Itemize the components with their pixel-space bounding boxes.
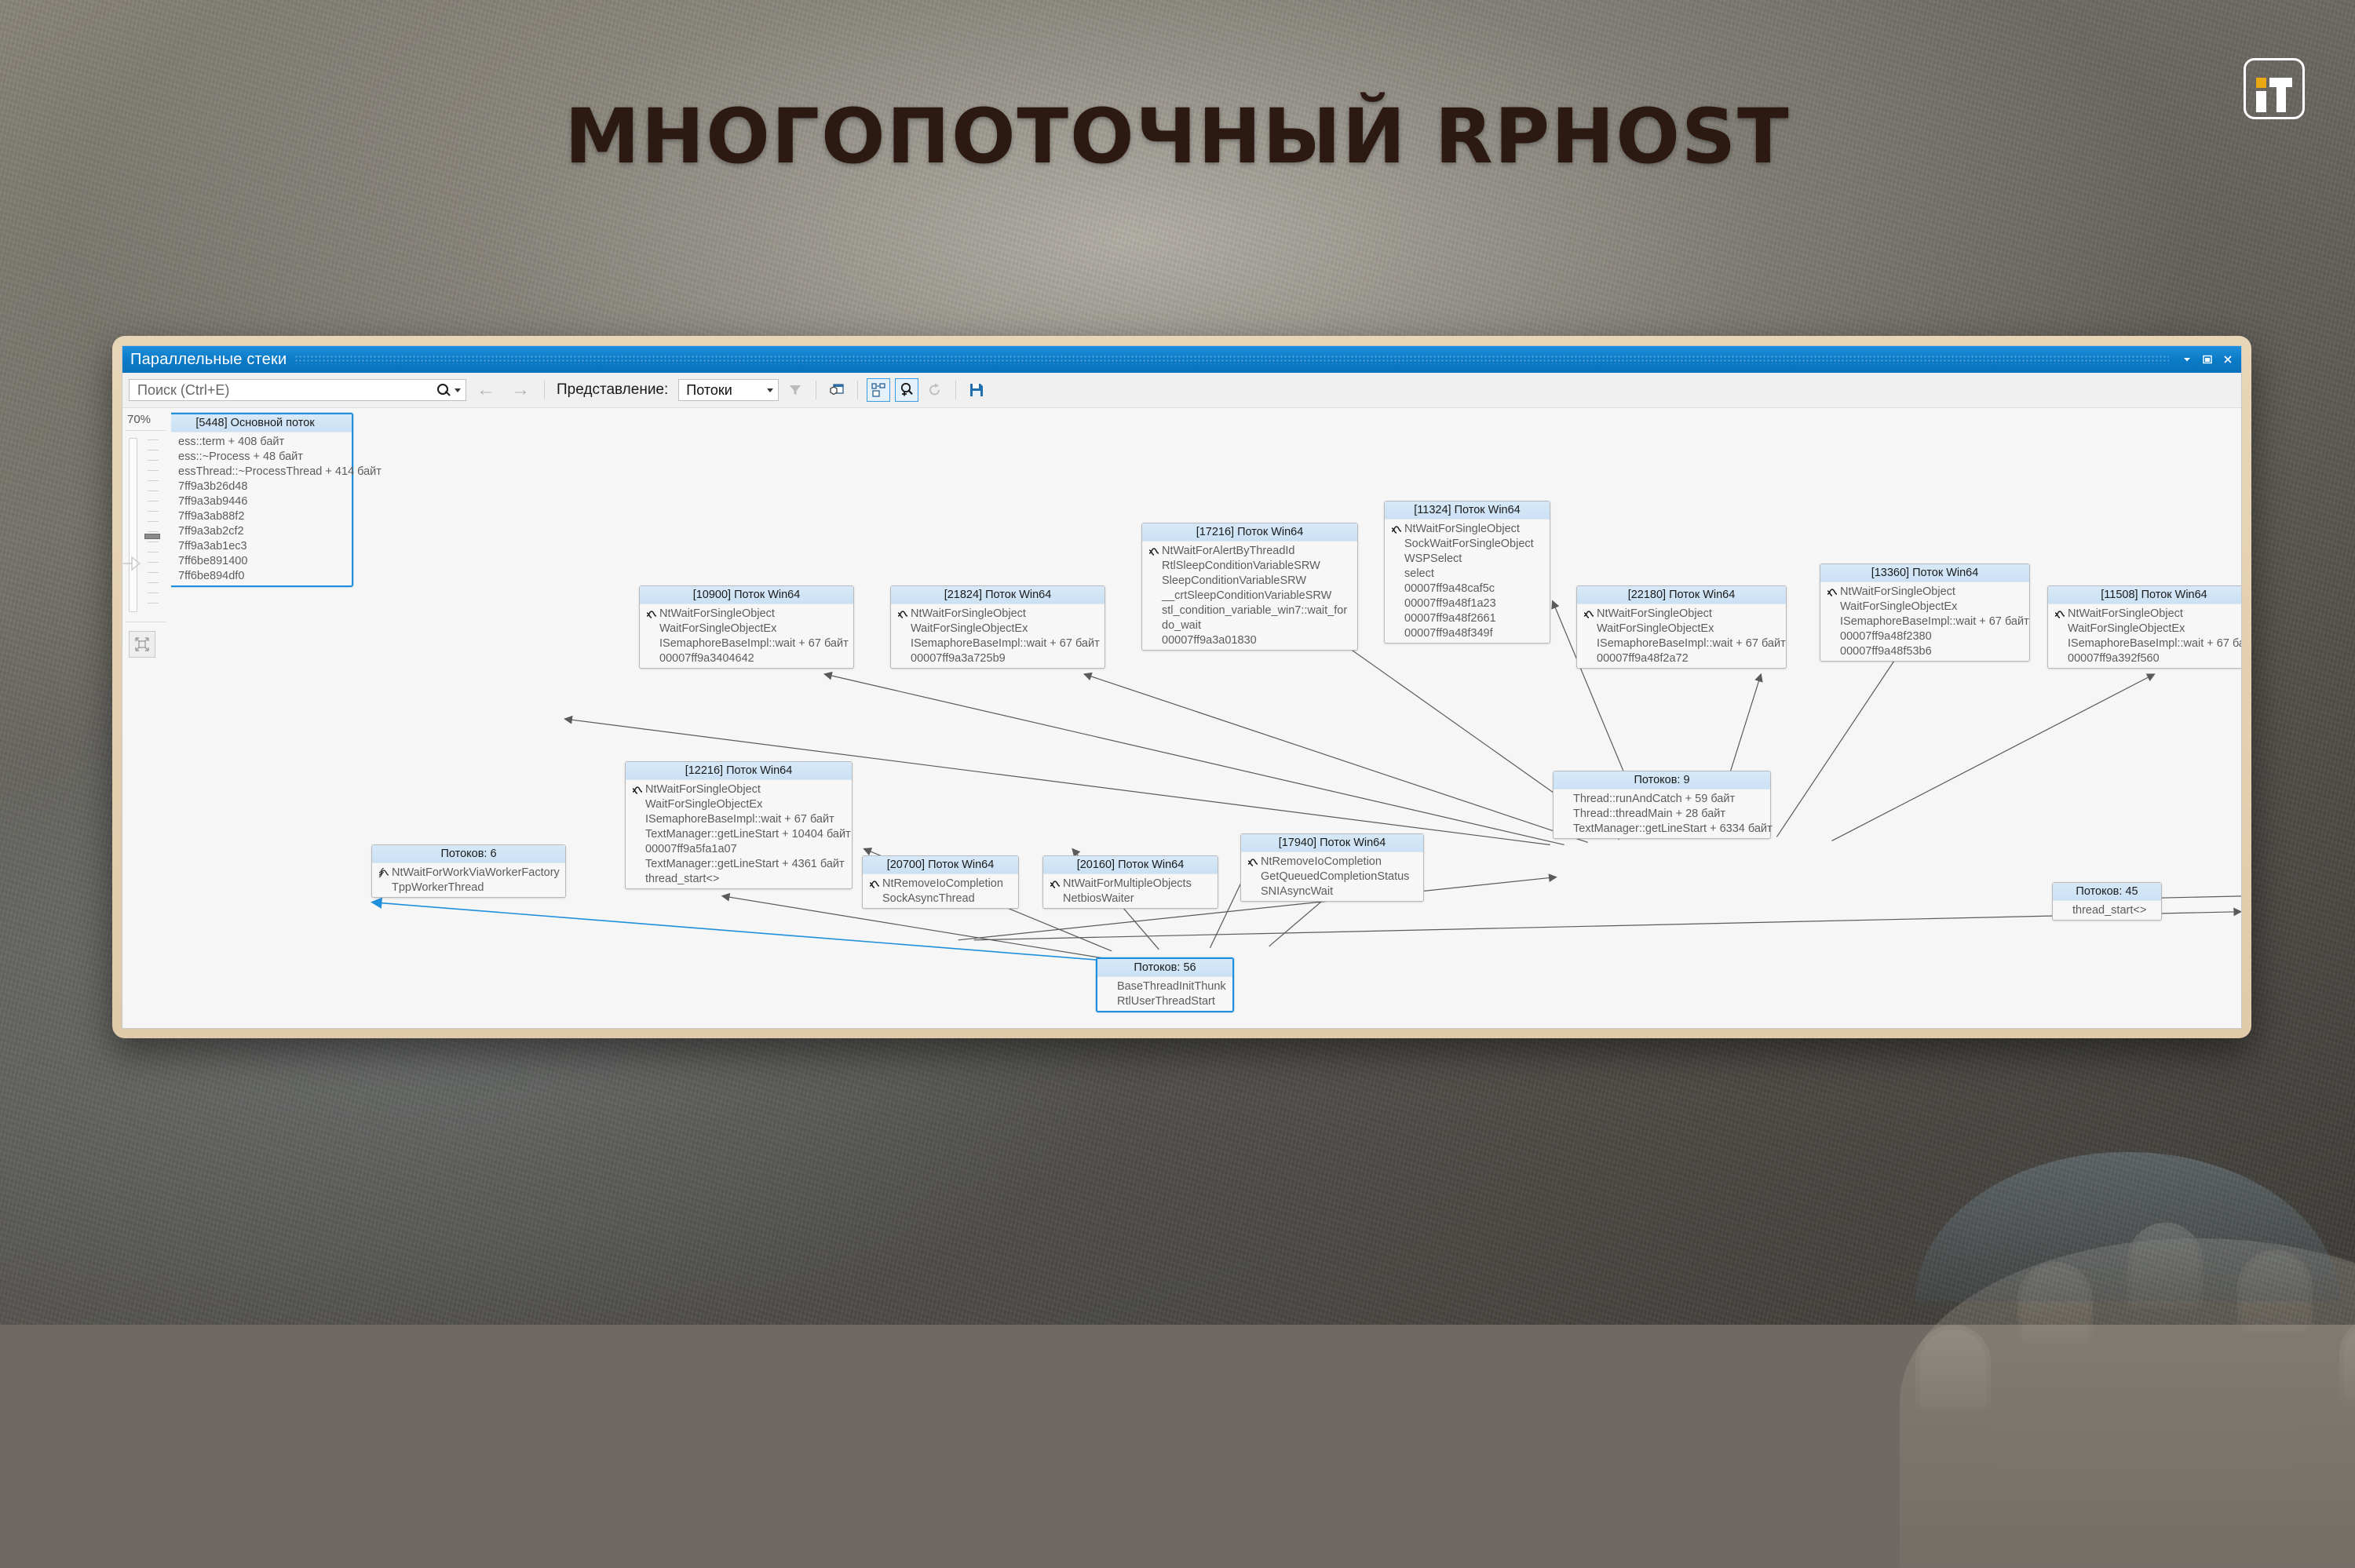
node-header: Потоков: 45	[2053, 883, 2161, 901]
node-header: [11324] Поток Win64	[1385, 501, 1550, 520]
stack-frame[interactable]: 7ff9a3ab1ec3	[171, 538, 352, 553]
stack-frame[interactable]: ISemaphoreBaseImpl::wait + 67 байт	[891, 636, 1104, 651]
stack-frame[interactable]: TextManager::getLineStart + 4361 байт	[626, 856, 852, 871]
stack-frame[interactable]: WSPSelect	[1385, 551, 1550, 566]
stack-frame[interactable]: WaitForSingleObjectEx	[891, 621, 1104, 636]
stack-frame[interactable]: do_wait	[1142, 618, 1357, 633]
stack-frame[interactable]: NtWaitForSingleObject	[640, 606, 853, 621]
node-header: [17216] Поток Win64	[1142, 523, 1357, 542]
node-header: [11508] Поток Win64	[2048, 586, 2241, 604]
stack-frame[interactable]: NtWaitForSingleObject	[1820, 584, 2029, 599]
node-frames: NtWaitForSingleObject WaitForSingleObjec…	[1820, 582, 2029, 661]
stack-frame[interactable]: RtlUserThreadStart	[1097, 994, 1232, 1008]
stack-frame[interactable]: essThread::~ProcessThread + 414 байт	[171, 464, 352, 479]
threads-glyph-icon	[2053, 609, 2066, 618]
node-header: [20700] Поток Win64	[863, 856, 1018, 874]
stack-node-20700[interactable]: [20700] Поток Win64 NtRemoveIoCompletion…	[862, 855, 1019, 909]
node-header: [17940] Поток Win64	[1241, 834, 1423, 852]
view-select-value: Потоки	[686, 382, 732, 399]
node-frames: BaseThreadInitThunk RtlUserThreadStart	[1097, 977, 1232, 1011]
node-frames: Thread::runAndCatch + 59 байт Thread::th…	[1554, 789, 1770, 838]
node-frames: NtWaitForSingleObject WaitForSingleObjec…	[2048, 604, 2241, 668]
stack-frame[interactable]: 00007ff9a3a725b9	[891, 651, 1104, 665]
stack-frame[interactable]: ISemaphoreBaseImpl::wait + 67 байт	[1820, 614, 2029, 629]
stack-frame[interactable]: TextManager::getLineStart + 6334 байт	[1554, 821, 1770, 836]
stack-frame[interactable]: 00007ff9a48f1a23	[1385, 596, 1550, 611]
stack-frame[interactable]: thread_start<>	[626, 871, 852, 886]
stack-frame[interactable]: WaitForSingleObjectEx	[1820, 599, 2029, 614]
stack-frame[interactable]: __crtSleepConditionVariableSRW	[1142, 588, 1357, 603]
stack-node-17940[interactable]: [17940] Поток Win64 NtRemoveIoCompletion…	[1240, 833, 1424, 902]
search-input[interactable]: Поиск (Ctrl+E)	[129, 379, 466, 401]
stack-frame[interactable]: select	[1385, 566, 1550, 581]
node-header: [21824] Поток Win64	[891, 586, 1104, 604]
stack-node-threads-9[interactable]: Потоков: 9 Thread::runAndCatch + 59 байт…	[1553, 771, 1771, 839]
node-frames: NtRemoveIoCompletion SockAsyncThread	[863, 874, 1018, 908]
window-titlebar: Параллельные стеки	[122, 346, 2241, 373]
stack-frame[interactable]: BaseThreadInitThunk	[1097, 979, 1232, 994]
slide-title: МНОГОПОТОЧНЫЙ RPHOST	[0, 93, 2355, 181]
threads-glyph-icon	[1389, 524, 1403, 534]
stack-frame[interactable]: 00007ff9a392f560	[2048, 651, 2241, 665]
node-frames: NtWaitForSingleObject WaitForSingleObjec…	[891, 604, 1104, 668]
stack-frame[interactable]: WaitForSingleObjectEx	[626, 797, 852, 811]
stack-node-17216[interactable]: [17216] Поток Win64 NtWaitForAlertByThre…	[1141, 523, 1358, 651]
toolbar-separator	[955, 381, 956, 399]
stack-frame[interactable]: 7ff9a3ab88f2	[171, 509, 352, 523]
node-header: [5448] Основной поток	[171, 414, 352, 432]
threads-glyph-icon	[1147, 546, 1160, 556]
search-icon[interactable]	[436, 383, 451, 397]
stack-node-threads-45[interactable]: Потоков: 45 thread_start<>	[2052, 882, 2162, 921]
zoom-percent-label: 70%	[122, 408, 171, 426]
diagram-canvas[interactable]: [5448] Основной поток ess::term + 408 ба…	[171, 408, 2241, 1028]
stack-frame[interactable]: ISemaphoreBaseImpl::wait + 67 байт	[640, 636, 853, 651]
chevron-down-icon[interactable]	[767, 388, 773, 392]
stack-frame[interactable]: NtWaitForMultipleObjects	[1043, 876, 1218, 891]
node-header: [22180] Поток Win64	[1577, 586, 1786, 604]
stack-frame[interactable]: 7ff9a3ab9446	[171, 494, 352, 509]
stack-frame[interactable]: 00007ff9a3404642	[640, 651, 853, 665]
stack-node-10900[interactable]: [10900] Поток Win64 NtWaitForSingleObjec…	[639, 585, 854, 669]
stack-frame[interactable]: 00007ff9a48f2380	[1820, 629, 2029, 644]
logo-i-stem	[2256, 91, 2266, 112]
stack-frame[interactable]: NtWaitForSingleObject	[1385, 521, 1550, 536]
stack-frame[interactable]: stl_condition_variable_win7::wait_for	[1142, 603, 1357, 618]
stack-frame[interactable]: 00007ff9a48f2661	[1385, 611, 1550, 625]
stack-frame[interactable]: GetQueuedCompletionStatus	[1241, 869, 1423, 884]
stack-frame[interactable]: 00007ff9a3a01830	[1142, 633, 1357, 647]
threads-glyph-icon	[896, 609, 909, 618]
threads-glyph-icon	[1825, 587, 1838, 596]
logo-i-dot	[2256, 78, 2266, 88]
stack-node-13360[interactable]: [13360] Поток Win64 NtWaitForSingleObjec…	[1820, 563, 2030, 662]
belt-decoration	[1915, 1152, 2339, 1301]
stack-frame[interactable]: 7ff6be891400	[171, 553, 352, 568]
node-header: [13360] Поток Win64	[1820, 564, 2029, 582]
stack-frame[interactable]: NetbiosWaiter	[1043, 891, 1218, 906]
stack-frame[interactable]: TextManager::getLineStart + 10404 байт	[626, 826, 852, 841]
window-toolbar: Поиск (Ctrl+E) ← → Представление: Потоки	[122, 373, 2241, 408]
node-header: Потоков: 56	[1097, 959, 1232, 977]
window-title: Параллельные стеки	[130, 351, 287, 369]
threads-glyph-icon	[867, 879, 881, 888]
node-frames: NtWaitForAlertByThreadId RtlSleepConditi…	[1142, 542, 1357, 650]
stack-frame[interactable]: ISemaphoreBaseImpl::wait + 67 байт	[1577, 636, 1786, 651]
stack-node-21824[interactable]: [21824] Поток Win64 NtWaitForSingleObjec…	[890, 585, 1105, 669]
logo-t-stem	[2276, 87, 2286, 112]
node-frames: NtWaitForWorkViaWorkerFactory TppWorkerT…	[372, 863, 565, 897]
screenshot-frame: Параллельные стеки Поиск (Ctrl+E) ← → Пр…	[112, 336, 2251, 1038]
stack-node-11508[interactable]: [11508] Поток Win64 NtWaitForSingleObjec…	[2047, 585, 2241, 669]
view-label: Представление:	[557, 381, 668, 399]
search-options-chevron-down-icon[interactable]	[455, 388, 461, 392]
stack-frame[interactable]: Thread::threadMain + 28 байт	[1554, 806, 1770, 821]
stack-node-12216[interactable]: [12216] Поток Win64 NtWaitForSingleObjec…	[625, 761, 853, 889]
stack-frame[interactable]: 00007ff9a48f53b6	[1820, 644, 2029, 658]
threads-glyph-icon	[1048, 879, 1061, 888]
stack-node-threads-56[interactable]: Потоков: 56 BaseThreadInitThunk RtlUserT…	[1096, 957, 1234, 1012]
node-frames: thread_start<>	[2053, 901, 2161, 920]
stack-frame[interactable]: ISemaphoreBaseImpl::wait + 67 байт	[2048, 636, 2241, 651]
node-frames: NtWaitForSingleObject WaitForSingleObjec…	[640, 604, 853, 668]
node-frames: NtRemoveIoCompletion GetQueuedCompletion…	[1241, 852, 1423, 901]
stack-frame[interactable]: WaitForSingleObjectEx	[640, 621, 853, 636]
stack-node-main-thread[interactable]: [5448] Основной поток ess::term + 408 ба…	[171, 413, 353, 587]
stack-node-11324[interactable]: [11324] Поток Win64 NtWaitForSingleObjec…	[1384, 501, 1550, 644]
titlebar-dropdown-icon[interactable]	[2177, 349, 2197, 370]
stack-frame[interactable]: SleepConditionVariableSRW	[1142, 573, 1357, 588]
stack-frame[interactable]: NtRemoveIoCompletion	[863, 876, 1018, 891]
node-frames: NtWaitForMultipleObjects NetbiosWaiter	[1043, 874, 1218, 908]
diagram-edges	[171, 408, 2241, 1028]
node-header: [12216] Поток Win64	[626, 762, 852, 780]
node-header: [20160] Поток Win64	[1043, 856, 1218, 874]
stack-frame[interactable]: ess::term + 408 байт	[171, 434, 352, 449]
zoom-slider-thumb[interactable]	[144, 534, 160, 539]
stack-frame[interactable]: SockAsyncThread	[863, 891, 1018, 906]
node-frames: NtWaitForSingleObject WaitForSingleObjec…	[1577, 604, 1786, 668]
stack-frame[interactable]: WaitForSingleObjectEx	[1577, 621, 1786, 636]
stack-frame[interactable]: 7ff9a3ab2cf2	[171, 523, 352, 538]
filter-icon[interactable]	[783, 378, 807, 402]
stack-frame[interactable]: NtWaitForAlertByThreadId	[1142, 543, 1357, 558]
threads-glyph-icon	[644, 609, 658, 618]
toolbar-separator	[544, 381, 545, 399]
node-frames: NtWaitForSingleObject WaitForSingleObjec…	[626, 780, 852, 888]
refresh-icon[interactable]	[923, 378, 947, 402]
stack-frame[interactable]: RtlSleepConditionVariableSRW	[1142, 558, 1357, 573]
stack-frame[interactable]: TppWorkerThread	[372, 880, 565, 895]
node-header: Потоков: 9	[1554, 771, 1770, 789]
threads-glyph-icon	[1246, 857, 1259, 866]
diagram-pane: 70%	[122, 408, 2241, 1028]
node-header: [10900] Поток Win64	[640, 586, 853, 604]
stack-node-20160[interactable]: [20160] Поток Win64 NtWaitForMultipleObj…	[1042, 855, 1218, 909]
stack-node-22180[interactable]: [22180] Поток Win64 NtWaitForSingleObjec…	[1576, 585, 1787, 669]
stack-frame[interactable]: NtWaitForWorkViaWorkerFactory	[372, 865, 565, 880]
node-frames: ess::term + 408 байт ess::~Process + 48 …	[171, 432, 352, 585]
stack-frame[interactable]: 00007ff9a48f2a72	[1577, 651, 1786, 665]
zoom-pan-handle[interactable]	[122, 553, 149, 574]
view-select[interactable]: Потоки	[678, 379, 779, 401]
threads-glyph-icon	[630, 785, 644, 794]
zoom-slider-track[interactable]	[129, 438, 137, 612]
save-icon[interactable]	[965, 378, 988, 402]
stack-frame[interactable]: Thread::runAndCatch + 59 байт	[1554, 791, 1770, 806]
stack-frame[interactable]: NtWaitForSingleObject	[1577, 606, 1786, 621]
zoom-to-fit-icon[interactable]	[129, 631, 155, 658]
auto-scroll-icon[interactable]	[895, 378, 918, 402]
node-frames: NtWaitForSingleObject SockWaitForSingleO…	[1385, 520, 1550, 643]
toolbar-separator	[816, 381, 816, 399]
maximize-icon[interactable]	[2197, 349, 2218, 370]
parallel-stacks-window: Параллельные стеки Поиск (Ctrl+E) ← → Пр…	[122, 345, 2242, 1029]
zoom-control: 70%	[122, 408, 171, 1028]
method-view-icon[interactable]	[825, 378, 849, 402]
stack-frame[interactable]: NtWaitForSingleObject	[2048, 606, 2241, 621]
stack-frame[interactable]: SockWaitForSingleObject	[1385, 536, 1550, 551]
threads-multi-glyph-icon	[377, 868, 390, 877]
back-arrow-icon[interactable]: ←	[471, 381, 501, 399]
it-logo	[2244, 58, 2305, 119]
stack-frame[interactable]: 00007ff9a48caf5c	[1385, 581, 1550, 596]
stack-frame[interactable]: WaitForSingleObjectEx	[2048, 621, 2241, 636]
stack-frame[interactable]: 7ff6be894df0	[171, 568, 352, 583]
logo-t-bar	[2269, 78, 2292, 87]
threads-glyph-icon	[1582, 609, 1595, 618]
stack-frame[interactable]: 00007ff9a5fa1a07	[626, 841, 852, 856]
zoom-slider-ticks	[148, 439, 159, 609]
stack-frame[interactable]: 00007ff9a48f349f	[1385, 625, 1550, 640]
titlebar-drag-dots[interactable]	[294, 355, 2169, 364]
stack-frame[interactable]: NtWaitForSingleObject	[626, 782, 852, 797]
forward-arrow-icon[interactable]: →	[506, 381, 535, 399]
stack-frame[interactable]: 7ff9a3b26d48	[171, 479, 352, 494]
close-icon[interactable]	[2218, 349, 2238, 370]
search-placeholder: Поиск (Ctrl+E)	[137, 382, 436, 399]
stack-frame[interactable]: NtRemoveIoCompletion	[1241, 854, 1423, 869]
stack-frame[interactable]: SNIAsyncWait	[1241, 884, 1423, 899]
stack-frame[interactable]: ess::~Process + 48 байт	[171, 449, 352, 464]
stack-frame[interactable]: thread_start<>	[2053, 903, 2161, 917]
stack-node-threads-6[interactable]: Потоков: 6 NtWaitForWorkViaWorkerFactory…	[371, 844, 566, 898]
stack-frame[interactable]: ISemaphoreBaseImpl::wait + 67 байт	[626, 811, 852, 826]
node-header: Потоков: 6	[372, 845, 565, 863]
toggle-zoom-control-icon[interactable]	[867, 378, 890, 402]
toolbar-separator	[857, 381, 858, 399]
stack-frame[interactable]: NtWaitForSingleObject	[891, 606, 1104, 621]
